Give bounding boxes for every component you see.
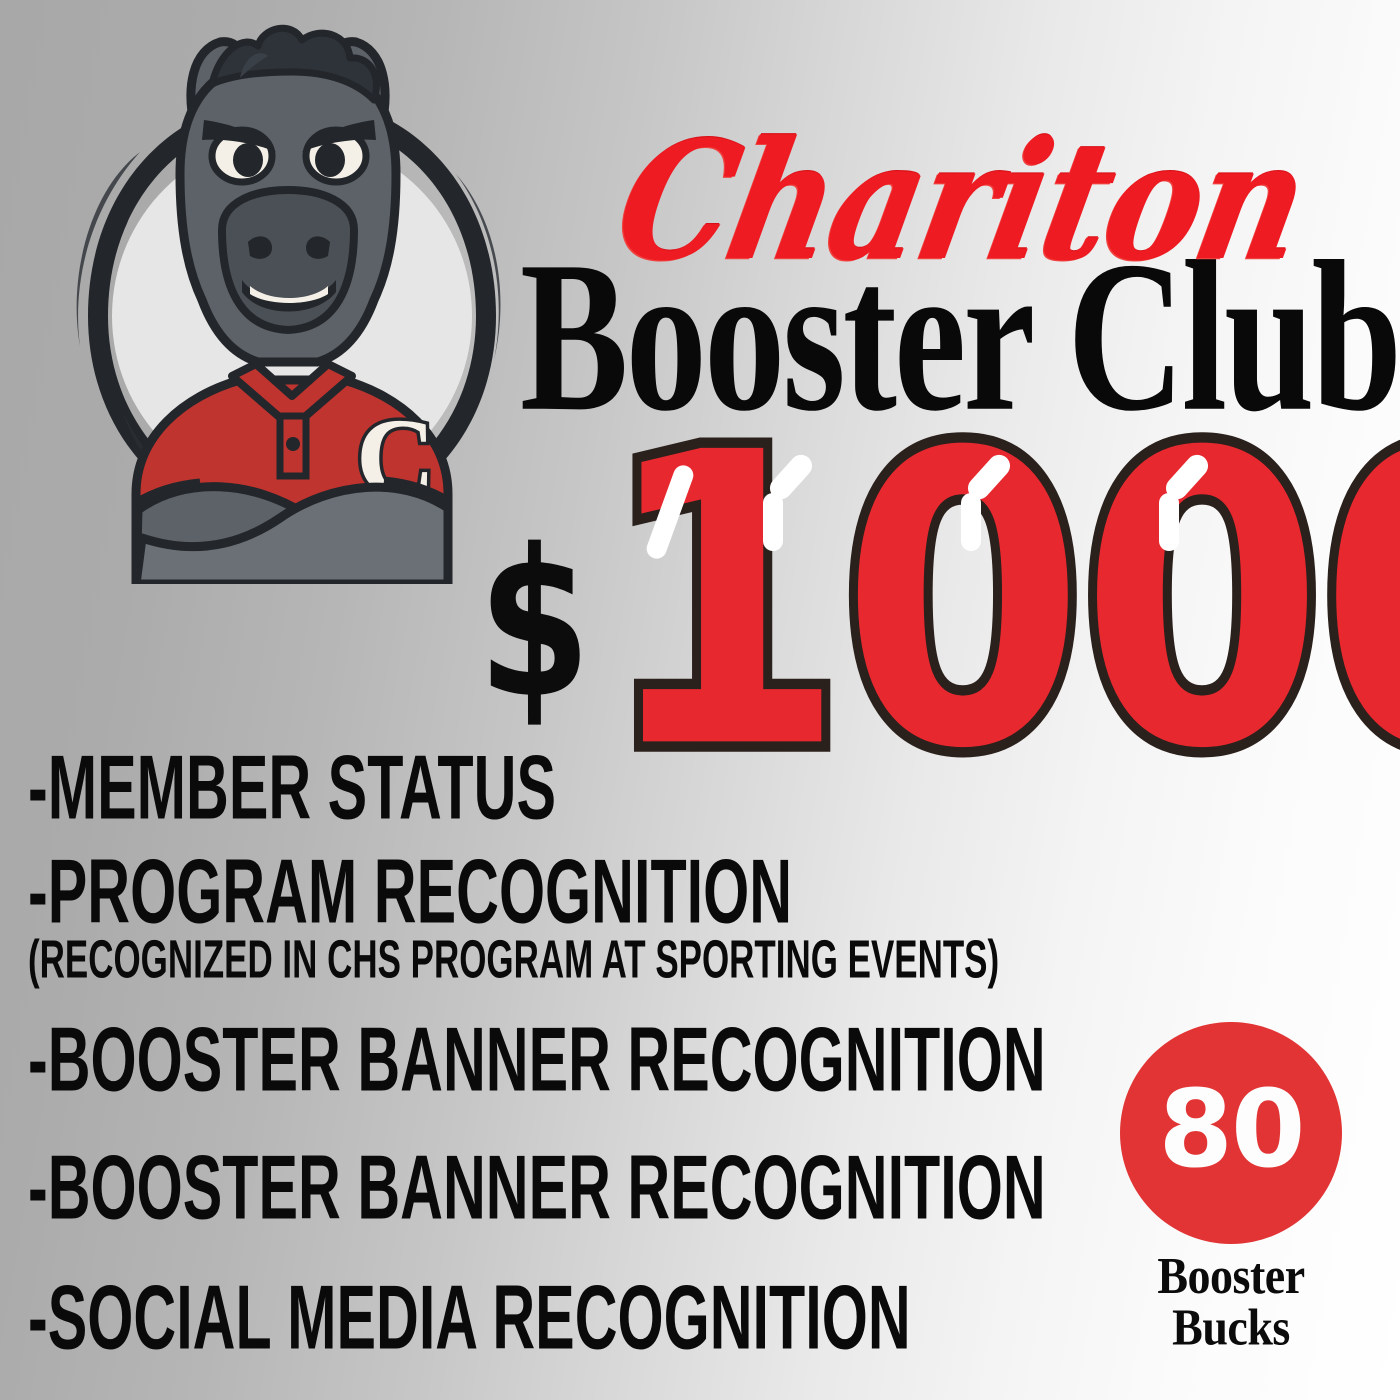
benefit-item: -MEMBER STATUS	[28, 742, 856, 832]
booster-bucks-label: Booster Bucks	[1096, 1250, 1366, 1353]
benefit-item: -SOCIAL MEDIA RECOGNITION	[28, 1272, 856, 1362]
booster-bucks-circle: 80	[1120, 1022, 1342, 1244]
booster-club-poster: C	[0, 0, 1400, 1400]
benefits-list: -MEMBER STATUS -PROGRAM RECOGNITION (REC…	[28, 748, 1118, 1356]
benefit-item: -PROGRAM RECOGNITION	[28, 846, 856, 936]
benefit-item: -BOOSTER BANNER RECOGNITION	[28, 1014, 856, 1104]
title-block: Chariton Booster Club	[520, 120, 1390, 390]
script-title-chariton: Chariton	[606, 120, 1316, 283]
benefit-item: -BOOSTER BANNER RECOGNITION	[28, 1142, 856, 1232]
booster-bucks-value: 80	[1159, 1077, 1304, 1184]
mustang-mascot-logo: C	[44, 24, 534, 584]
dollar-sign: $	[478, 523, 591, 727]
mascot-head	[180, 28, 396, 362]
booster-bucks-badge: 80 Booster Bucks	[1096, 1022, 1366, 1348]
price-block: $ 1000	[470, 405, 1400, 775]
benefit-note: (RECOGNIZED IN CHS PROGRAM AT SPORTING E…	[28, 932, 856, 985]
